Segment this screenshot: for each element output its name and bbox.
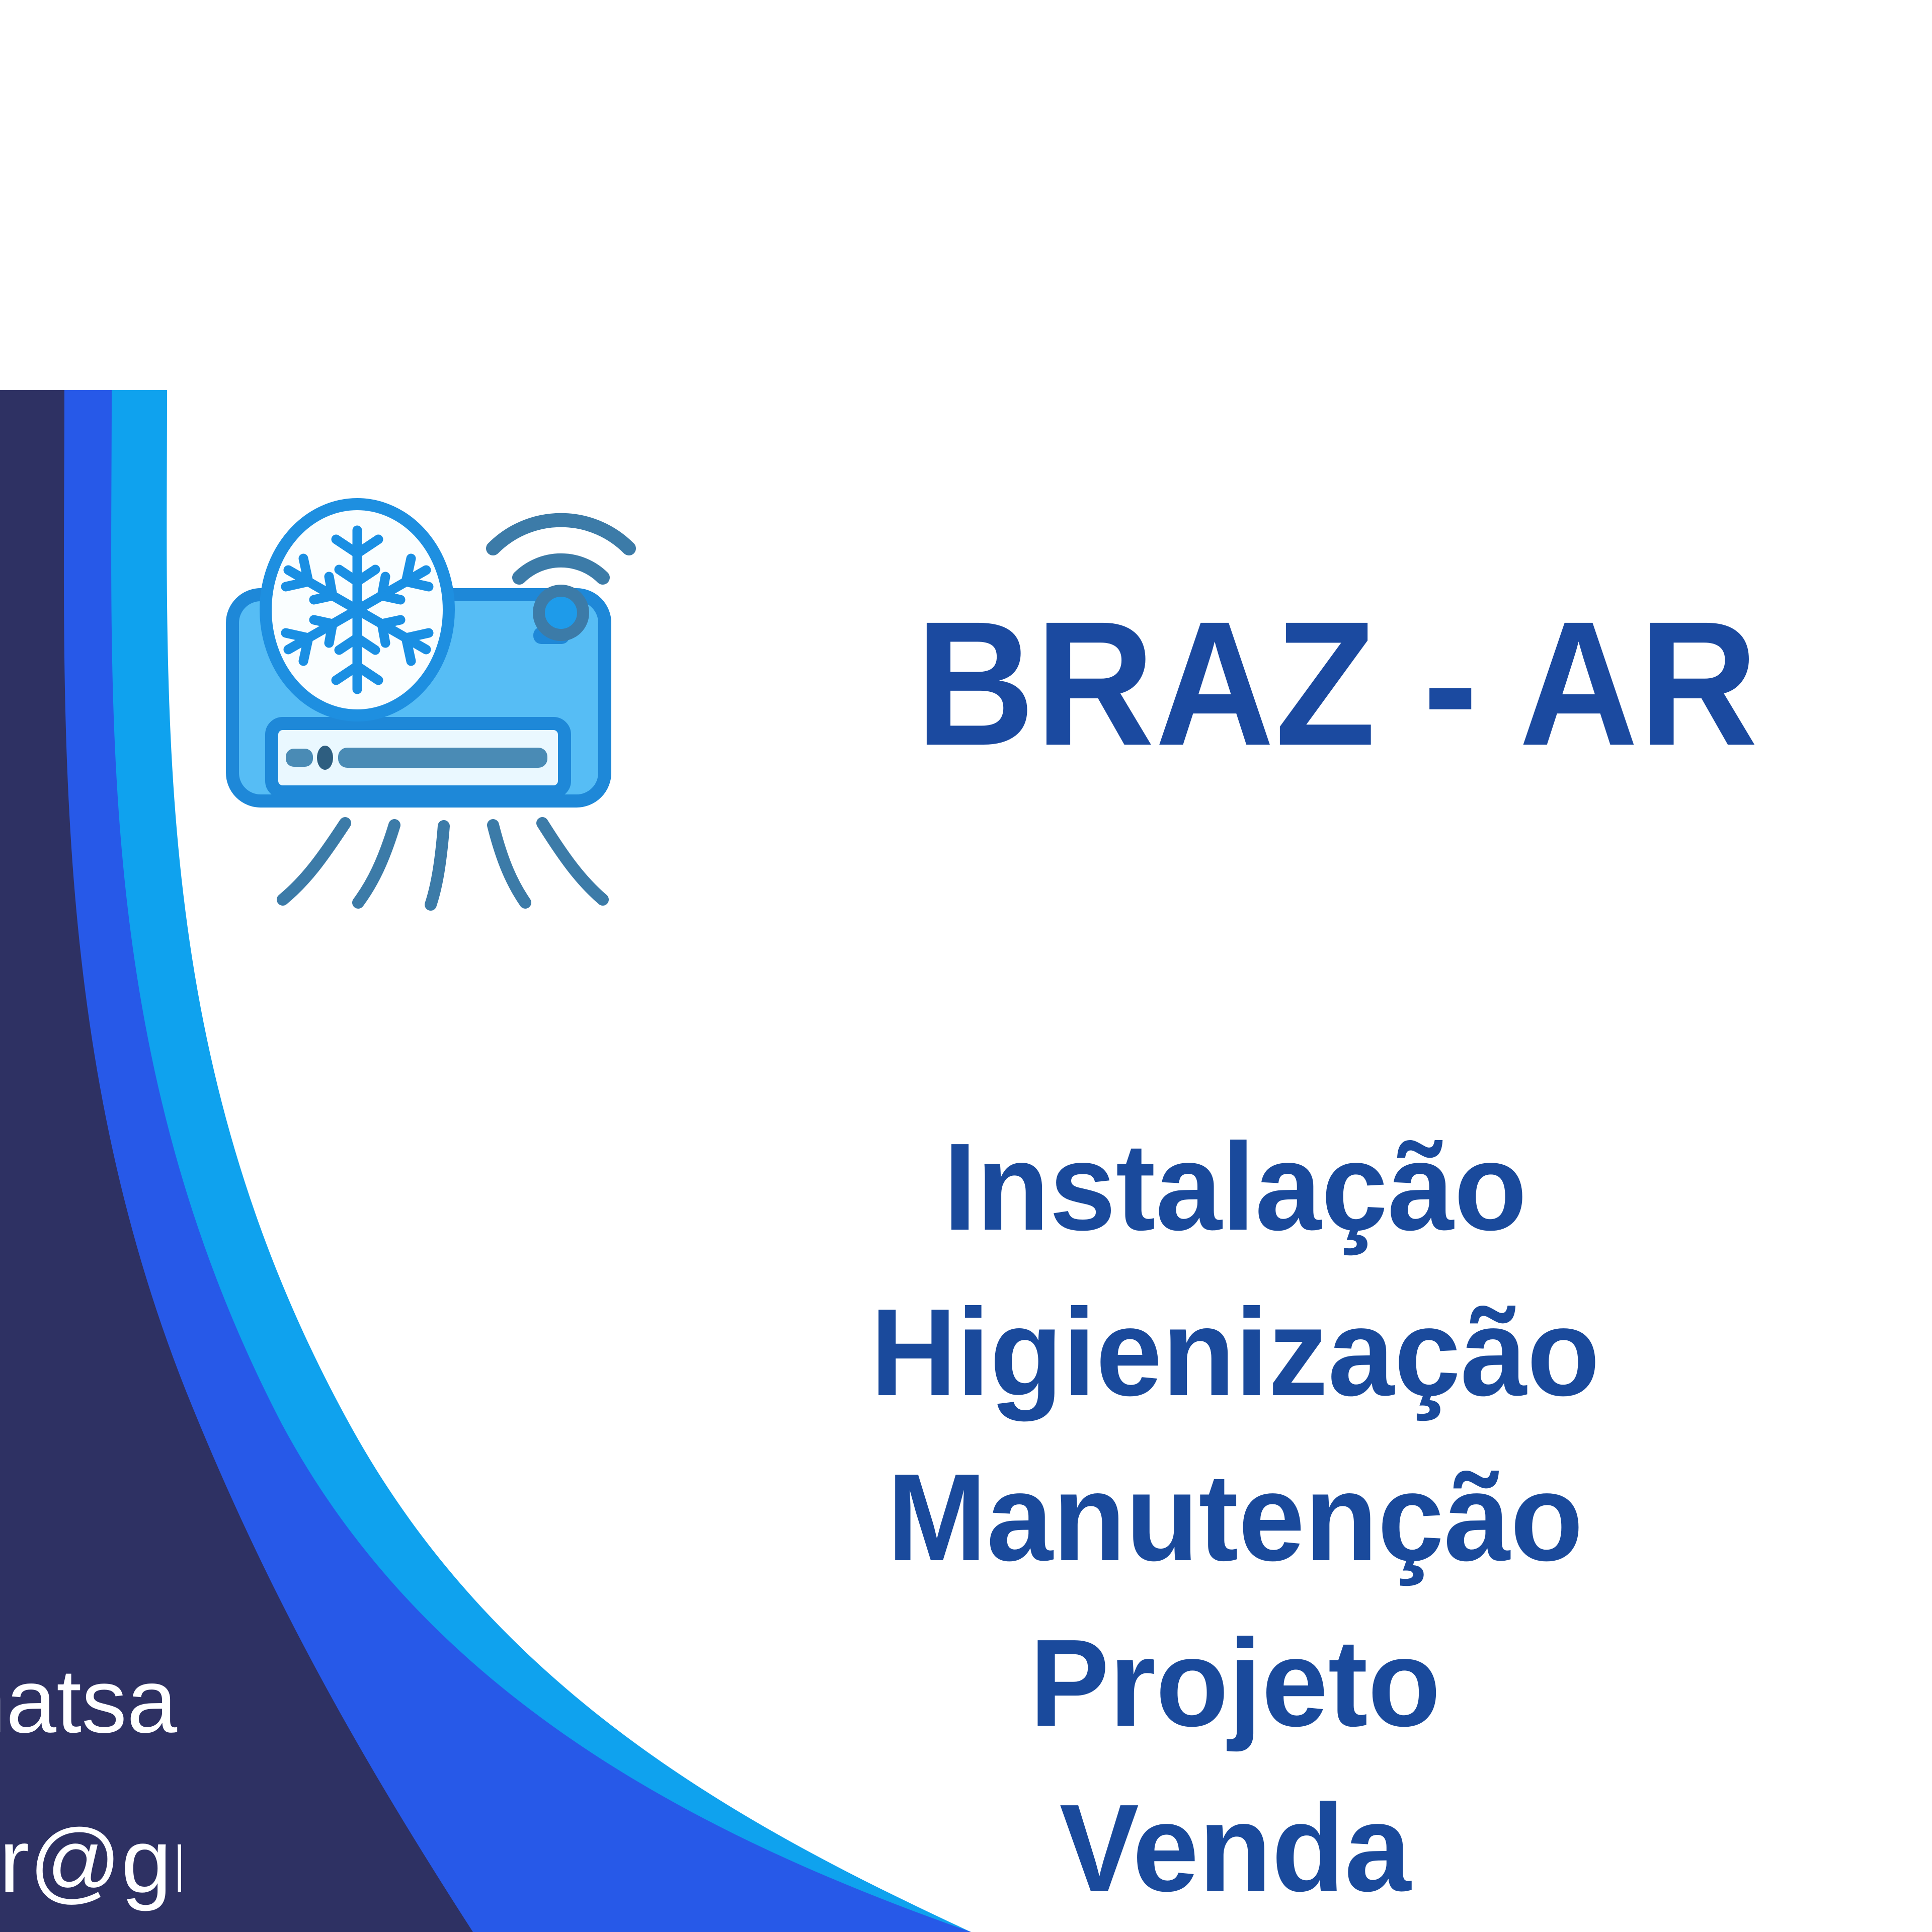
wifi-signal-icon xyxy=(493,520,629,578)
service-item-manutencao: Manutenção xyxy=(721,1435,1750,1600)
service-item-instalacao: Instalação xyxy=(721,1104,1750,1270)
wifi-dot-icon xyxy=(539,591,583,635)
air-conditioner-icon xyxy=(221,478,694,911)
services-list: Instalação Higienização Manutenção Proje… xyxy=(699,1104,1771,1931)
airflow-lines-icon xyxy=(283,823,603,905)
business-card-image: (Whatsapp) brazar@gmail.com xyxy=(0,0,1932,1932)
contact-email-text: brazar@gmail.com xyxy=(0,1816,181,1907)
service-item-projeto: Projeto xyxy=(721,1600,1750,1766)
logo-lockup: BRAZ - AR xyxy=(221,478,1731,931)
contact-phone-text: (Whatsapp) xyxy=(0,1656,181,1747)
snowflake-badge-icon xyxy=(266,504,449,715)
brand-name: BRAZ - AR xyxy=(916,595,1759,772)
service-item-venda: Venda xyxy=(721,1765,1750,1931)
service-item-higienizacao: Higienização xyxy=(721,1270,1750,1435)
contact-info-clipped: (Whatsapp) brazar@gmail.com xyxy=(0,1650,181,1932)
